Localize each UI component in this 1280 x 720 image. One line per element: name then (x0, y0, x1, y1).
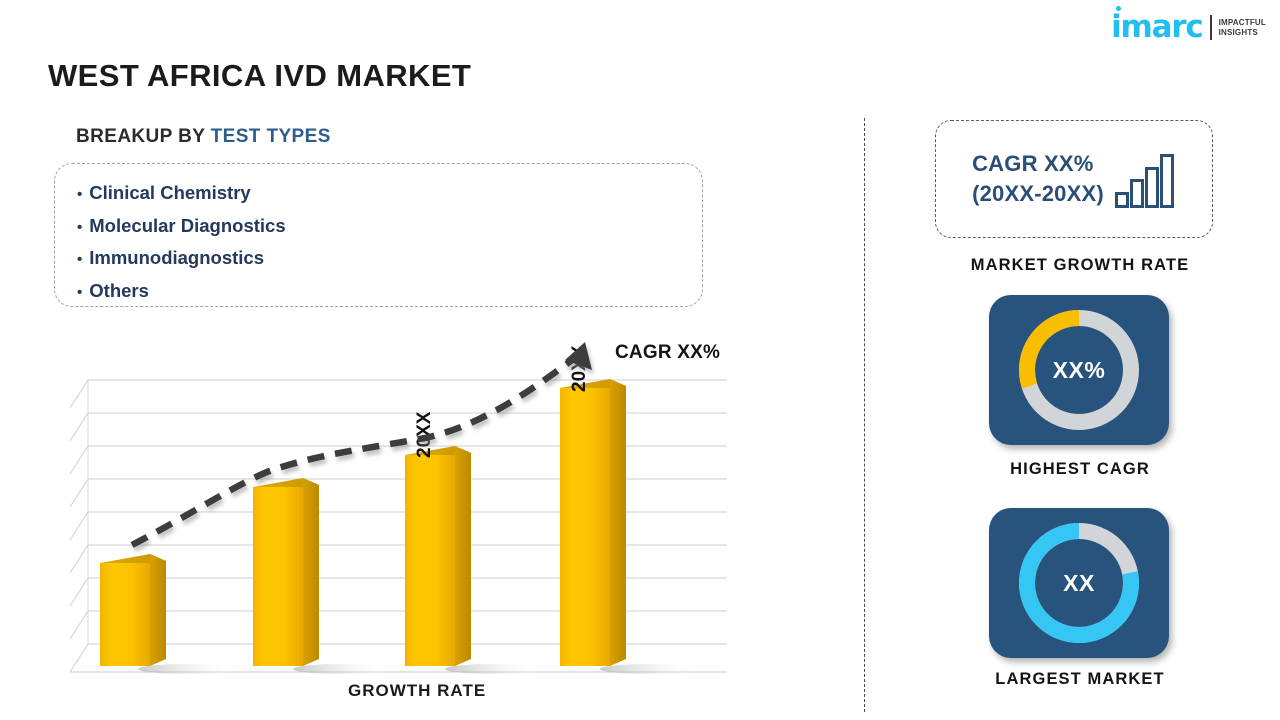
section-subtitle: BREAKUP BY TEST TYPES (76, 126, 331, 148)
list-item: • Immunodiagnostics (77, 243, 702, 276)
list-item-label: Molecular Diagnostics (89, 211, 285, 242)
market-growth-rate-box: CAGR XX% (20XX-20XX) (935, 120, 1213, 238)
bullet-icon: • (77, 213, 82, 244)
logo-tagline: IMPACTFUL INSIGHTS (1219, 18, 1266, 38)
breakup-list-box: • Clinical Chemistry • Molecular Diagnos… (54, 163, 703, 307)
list-item-label: Clinical Chemistry (89, 178, 250, 209)
chart-x-axis-label: GROWTH RATE (348, 681, 486, 701)
list-item: • Molecular Diagnostics (77, 211, 702, 244)
largest-market-caption: LARGEST MARKET (900, 670, 1260, 689)
list-item: • Others (77, 276, 702, 309)
imarc-logo: imarc IMPACTFUL INSIGHTS (1111, 12, 1266, 43)
trend-line (132, 342, 592, 545)
cagr-line-1: CAGR XX% (972, 149, 1104, 179)
logo-divider (1210, 15, 1212, 40)
bar-chart-icon (1114, 153, 1176, 209)
bullet-icon: • (77, 180, 82, 211)
list-item: • Clinical Chemistry (77, 178, 702, 211)
bar-1 (100, 554, 166, 666)
subtitle-accent: TEST TYPES (211, 126, 331, 147)
cagr-line-2: (20XX-20XX) (972, 179, 1104, 209)
logo-tagline-line2: INSIGHTS (1219, 28, 1266, 38)
page-title: WEST AFRICA IVD MARKET (48, 58, 471, 94)
logo-wordmark-text: imarc (1111, 9, 1203, 45)
bar-2 (253, 478, 319, 666)
largest-market-tile: XX (989, 508, 1169, 658)
logo-tagline-line1: IMPACTFUL (1219, 18, 1266, 28)
infographic-page: imarc IMPACTFUL INSIGHTS WEST AFRICA IVD… (0, 0, 1280, 720)
subtitle-prefix: BREAKUP BY (76, 126, 205, 147)
highest-cagr-caption: HIGHEST CAGR (900, 460, 1260, 479)
cagr-text: CAGR XX% (20XX-20XX) (972, 149, 1104, 209)
highest-cagr-value: XX% (1004, 295, 1154, 445)
highest-cagr-donut: XX% (1004, 295, 1154, 445)
largest-market-donut: XX (1004, 508, 1154, 658)
growth-rate-bar-chart: 20XX 20XX CAGR XX% GROWTH RATE (60, 330, 750, 710)
chart-cagr-annotation: CAGR XX% (615, 342, 720, 364)
chart-canvas: 20XX 20XX (60, 330, 750, 675)
bar-4: 20XX (560, 345, 626, 666)
bullet-icon: • (77, 245, 82, 276)
list-item-label: Others (89, 276, 149, 307)
market-growth-rate-caption: MARKET GROWTH RATE (900, 256, 1260, 275)
panel-divider (864, 118, 865, 712)
bullet-icon: • (77, 278, 82, 309)
largest-market-value: XX (1004, 508, 1154, 658)
highest-cagr-tile: XX% (989, 295, 1169, 445)
bar-3: 20XX (405, 411, 471, 666)
list-item-label: Immunodiagnostics (89, 243, 264, 274)
logo-wordmark: imarc (1111, 12, 1203, 43)
